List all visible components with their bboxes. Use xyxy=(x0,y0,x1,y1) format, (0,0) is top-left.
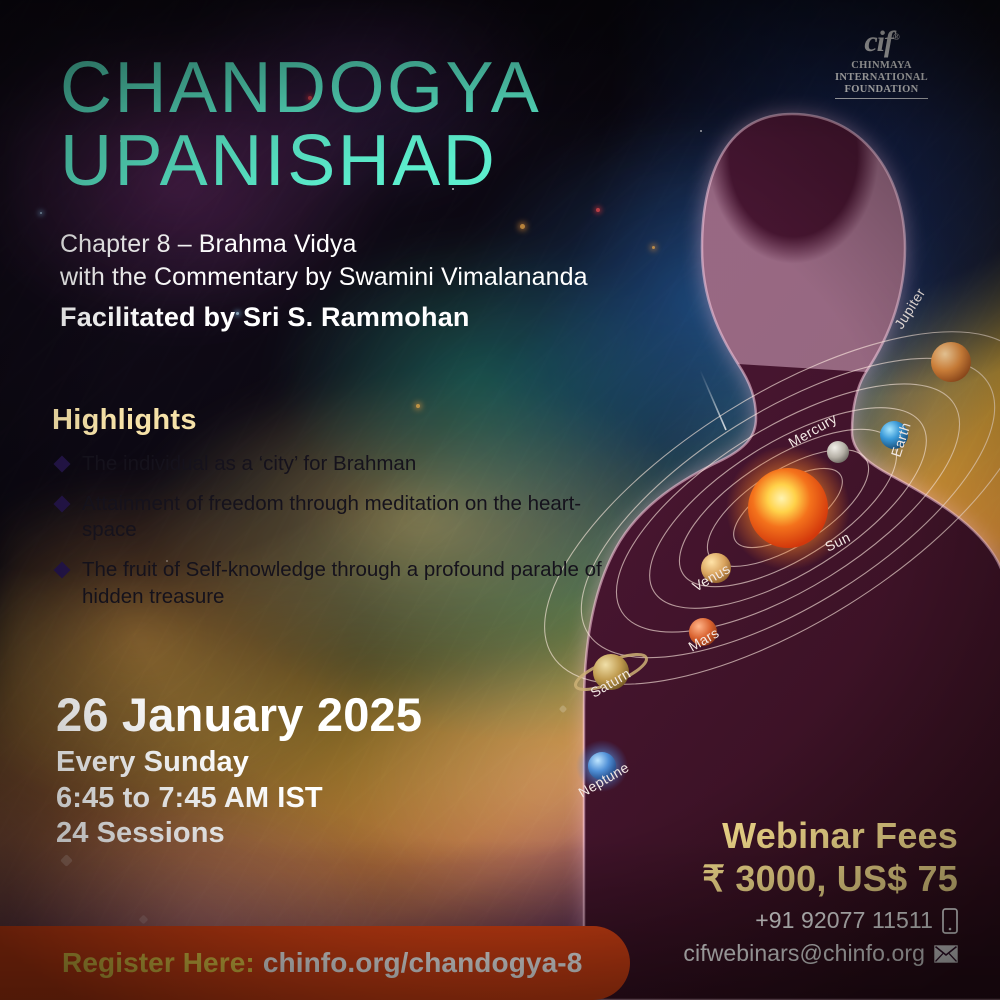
highlight-item: The individual as a ‘city’ for Brahman xyxy=(52,451,612,478)
mobile-phone-icon xyxy=(942,908,958,934)
highlight-item-text: The fruit of Self-knowledge through a pr… xyxy=(82,557,612,610)
schedule-recurrence: Every Sunday xyxy=(56,745,476,780)
cif-logo-name: Chinmaya International Foundation xyxy=(835,60,928,100)
planet-jupiter xyxy=(931,342,971,382)
highlights-section: Highlights The individual as a ‘city’ fo… xyxy=(52,404,612,623)
register-url[interactable]: chinfo.org/chandogya-8 xyxy=(263,947,583,978)
diamond-bullet-icon xyxy=(54,456,71,473)
cif-logo: cif® Chinmaya International Foundation xyxy=(835,28,928,99)
fees-heading: Webinar Fees xyxy=(702,815,958,857)
subtitle-facilitator: Facilitated by Sri S. Rammohan xyxy=(60,300,680,336)
contact-phone-row[interactable]: +91 92077 11511 xyxy=(683,905,958,936)
poster-canvas: Jupiter Mercury Earth Sun Venus Mars Sat… xyxy=(0,0,1000,1000)
title-line-2: UPANISHAD xyxy=(60,125,700,198)
fees-amount: ₹ 3000, US$ 75 xyxy=(702,858,958,900)
highlights-heading: Highlights xyxy=(52,404,612,437)
register-bar-content: Register Here:chinfo.org/chandogya-8 xyxy=(0,947,582,979)
highlight-item: Attainment of freedom through meditation… xyxy=(52,491,612,544)
register-label: Register Here: xyxy=(62,947,255,978)
schedule-date: 26 January 2025 xyxy=(56,690,476,739)
solar-system-graphic: Jupiter Mercury Earth Sun Venus Mars Sat… xyxy=(570,300,1000,860)
schedule-details: Every Sunday 6:45 to 7:45 AM IST 24 Sess… xyxy=(56,745,476,851)
webinar-fees-section: Webinar Fees ₹ 3000, US$ 75 xyxy=(702,815,958,900)
cif-logo-underline xyxy=(835,98,928,99)
cif-logo-mark-text: cif xyxy=(864,25,893,58)
schedule-time: 6:45 to 7:45 AM IST xyxy=(56,781,476,816)
title-line-1: CHANDOGYA xyxy=(60,52,700,125)
register-bar[interactable]: Register Here:chinfo.org/chandogya-8 xyxy=(0,926,630,1000)
schedule-section: 26 January 2025 Every Sunday 6:45 to 7:4… xyxy=(56,690,476,851)
highlight-item: The fruit of Self-knowledge through a pr… xyxy=(52,557,612,610)
cif-logo-name-line-1: Chinmaya xyxy=(835,60,928,72)
contact-email-address: cifwebinars@chinfo.org xyxy=(683,938,925,969)
diamond-bullet-icon xyxy=(54,561,71,578)
envelope-icon xyxy=(934,945,958,963)
planet-mercury xyxy=(827,441,849,463)
contact-email-row[interactable]: cifwebinars@chinfo.org xyxy=(683,938,958,969)
cif-logo-mark: cif® xyxy=(835,28,928,57)
cif-logo-name-line-3: Foundation xyxy=(835,84,928,96)
schedule-sessions: 24 Sessions xyxy=(56,816,476,851)
subtitle-commentary: with the Commentary by Swamini Vimalanan… xyxy=(60,261,680,294)
highlight-item-text: Attainment of freedom through meditation… xyxy=(82,491,612,544)
subtitle-chapter: Chapter 8 – Brahma Vidya xyxy=(60,228,680,261)
contact-section: +91 92077 11511 cifwebinars@chinfo.org xyxy=(683,905,958,971)
page-title: CHANDOGYA UPANISHAD xyxy=(60,52,700,199)
contact-phone-number: +91 92077 11511 xyxy=(755,905,933,936)
subtitle-block: Chapter 8 – Brahma Vidya with the Commen… xyxy=(60,228,680,336)
diamond-bullet-icon xyxy=(54,495,71,512)
cif-registered-icon: ® xyxy=(893,32,899,42)
highlight-item-text: The individual as a ‘city’ for Brahman xyxy=(82,451,416,478)
cif-logo-name-line-2: International xyxy=(835,72,928,84)
